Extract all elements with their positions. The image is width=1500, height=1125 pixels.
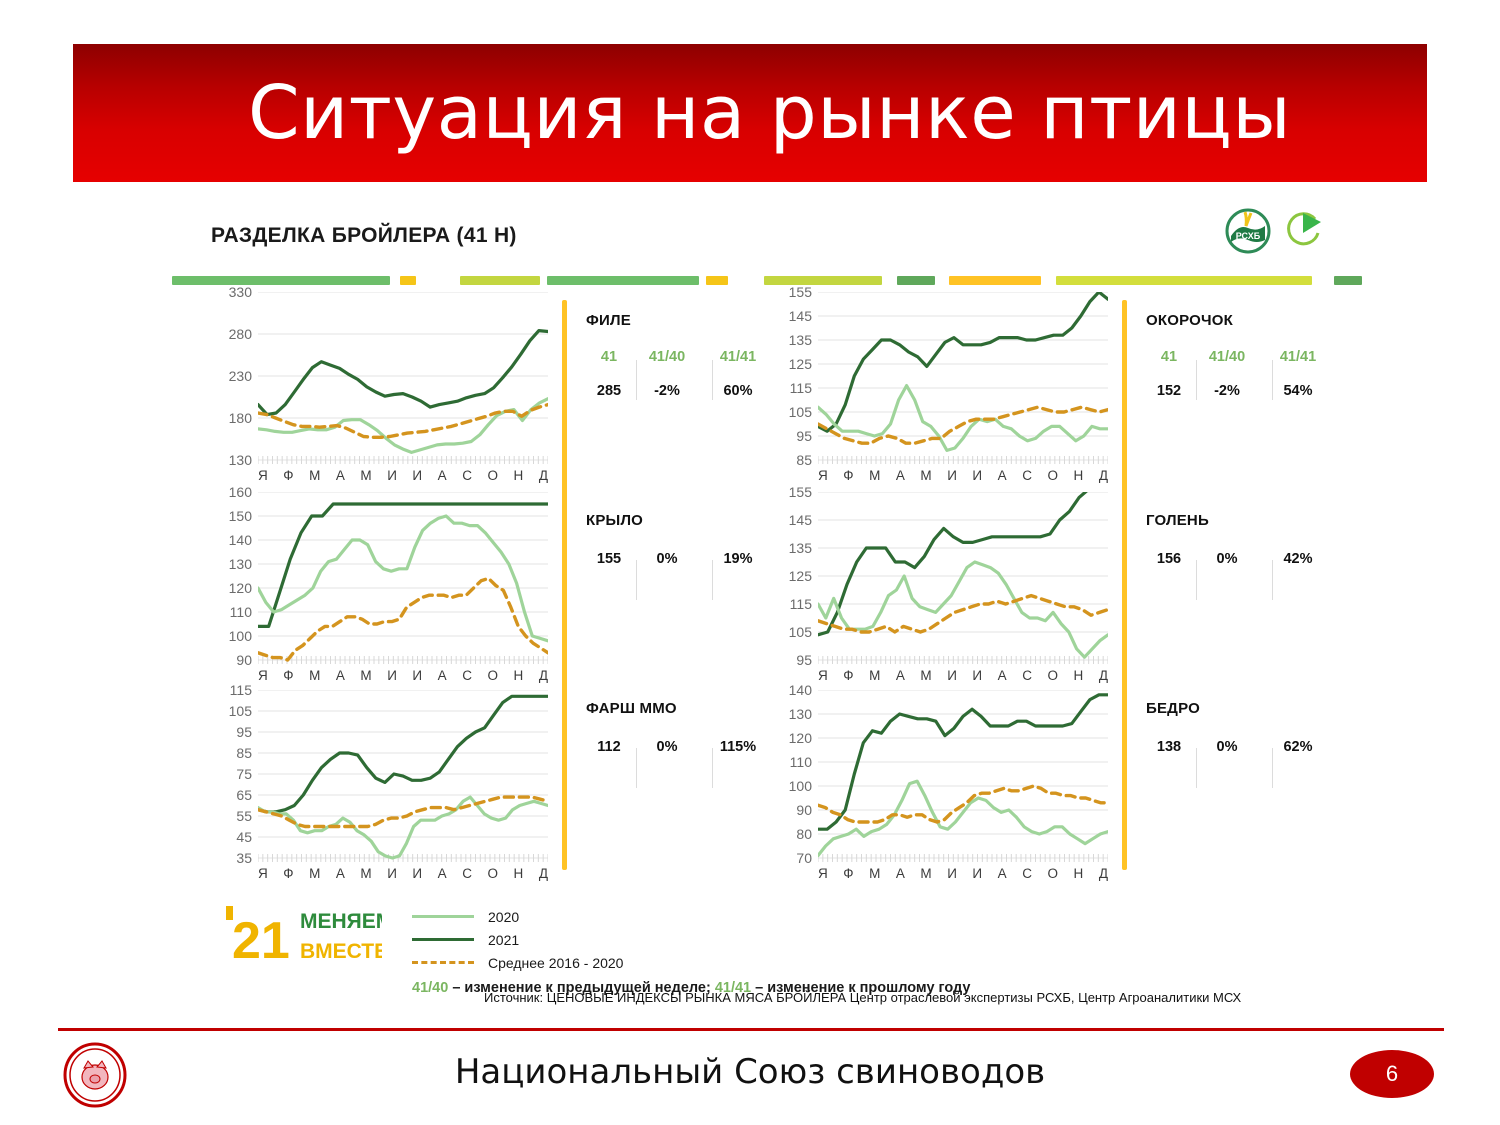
x-tick-label: М (920, 468, 931, 483)
series-line (818, 492, 1108, 635)
y-tick-label: 100 (789, 779, 812, 793)
y-tick-label: 125 (789, 357, 812, 371)
x-tick-label: И (412, 468, 422, 483)
x-tick-label: О (1047, 866, 1058, 881)
x-tick-label: Ф (843, 468, 853, 483)
x-tick-label: М (920, 668, 931, 683)
metrics-column-separator (712, 748, 713, 788)
x-tick-label: Я (818, 866, 828, 881)
x-tick-label: И (947, 866, 957, 881)
x-tick-label: А (896, 866, 905, 881)
x-tick-label: И (972, 668, 982, 683)
x-tick-label: А (998, 866, 1007, 881)
deco-segment (460, 276, 540, 285)
y-tick-label: 130 (229, 453, 252, 467)
column-divider (562, 300, 567, 870)
metrics-header-c2: 41/40 (1192, 349, 1262, 365)
x-tick-label: И (387, 668, 397, 683)
y-tick-label: 130 (789, 707, 812, 721)
x-tick-label: М (869, 668, 880, 683)
x-tick-label: М (360, 866, 371, 881)
series-line (818, 781, 1108, 855)
deco-segment (1334, 276, 1362, 285)
y-tick-label: 115 (790, 597, 812, 611)
x-tick-label: Ф (283, 668, 293, 683)
x-tick-label: И (387, 468, 397, 483)
deco-segment (1056, 276, 1312, 285)
series-line (258, 504, 548, 626)
metrics-column-separator (1272, 560, 1273, 600)
slide-title-bar: Ситуация на рынке птицы (73, 44, 1427, 182)
x-tick-label: А (336, 866, 345, 881)
y-tick-label: 120 (229, 581, 252, 595)
y-tick-label: 110 (790, 755, 812, 769)
metrics-values: 152-2%54% (1146, 383, 1334, 399)
partner-logos: РСХБ (1225, 208, 1325, 254)
x-tick-label: Д (539, 866, 548, 881)
metric-c2: 0% (632, 551, 702, 567)
metrics-крыло: КРЫЛО1550%19% (586, 512, 774, 567)
campaign-logo-21: 21 МЕНЯЕМСЯ ВМЕСТЕ (222, 900, 382, 966)
plot-area (258, 492, 548, 670)
metric-c1: 156 (1146, 551, 1192, 567)
legend-label: Среднее 2016 - 2020 (488, 955, 623, 971)
y-tick-label: 155 (789, 485, 812, 499)
y-tick-label: 145 (789, 309, 812, 323)
y-tick-label: 55 (236, 809, 252, 823)
metrics-column-separator (712, 560, 713, 600)
x-tick-label: Д (539, 468, 548, 483)
deco-segment (897, 276, 935, 285)
series-line (258, 797, 548, 858)
plot-area (818, 292, 1108, 470)
metrics-окорочок: ОКОРОЧОК4141/4041/41152-2%54% (1146, 312, 1334, 399)
y-tick-label: 115 (230, 683, 252, 697)
metrics-column-separator (712, 360, 713, 400)
svg-text:РСХБ: РСХБ (1236, 231, 1261, 241)
metrics-column-separator (636, 748, 637, 788)
cut-name: ГОЛЕНЬ (1146, 512, 1334, 529)
plot-area (258, 292, 548, 470)
legend-label: 2020 (488, 909, 519, 925)
chart-4: 95105115125135145155ЯФМАМИИАСОНД (766, 492, 1116, 694)
series-line (258, 578, 548, 660)
deco-segment (949, 276, 1041, 285)
y-tick-label: 145 (789, 513, 812, 527)
footer-title: Национальный Союз свиноводов (0, 1052, 1500, 1092)
x-axis-month-labels: ЯФМАМИИАСОНД (818, 866, 1108, 881)
cut-name: ФИЛЕ (586, 312, 774, 329)
x-tick-label: М (309, 668, 320, 683)
cut-name: ФАРШ ММО (586, 700, 774, 717)
series-line (258, 405, 548, 438)
plot-area (818, 492, 1108, 670)
metric-c2: 0% (1192, 739, 1262, 755)
x-tick-label: Н (514, 468, 524, 483)
x-tick-label: М (920, 866, 931, 881)
x-tick-label: И (972, 866, 982, 881)
x-tick-label: О (487, 668, 498, 683)
series-line (258, 696, 548, 812)
y-tick-label: 330 (229, 285, 252, 299)
x-tick-label: И (412, 668, 422, 683)
x-tick-label: Н (514, 668, 524, 683)
metrics-column-separator (1196, 748, 1197, 788)
y-tick-label: 105 (789, 625, 812, 639)
x-axis-month-labels: ЯФМАМИИАСОНД (258, 866, 548, 881)
metrics-values: 1120%115% (586, 739, 774, 755)
x-tick-label: Д (539, 668, 548, 683)
chart-1: 90100110120130140150160ЯФМАМИИАСОНД (206, 492, 556, 694)
legend-swatch-average (412, 961, 474, 964)
y-tick-label: 135 (789, 541, 812, 555)
metrics-header: 4141/4041/41 (1146, 349, 1334, 365)
metrics-values: 1550%19% (586, 551, 774, 567)
x-tick-label: Я (258, 866, 268, 881)
x-axis-month-labels: ЯФМАМИИАСОНД (818, 668, 1108, 683)
metrics-values: 1380%62% (1146, 739, 1334, 755)
svg-text:ВМЕСТЕ: ВМЕСТЕ (300, 940, 382, 963)
x-tick-label: М (869, 866, 880, 881)
metrics-column-separator (1272, 360, 1273, 400)
legend-note-code-wow: 41/40 (412, 980, 448, 996)
cut-name: КРЫЛО (586, 512, 774, 529)
x-tick-label: О (1047, 668, 1058, 683)
chart-2: 35455565758595105115ЯФМАМИИАСОНД (206, 690, 556, 892)
x-tick-label: И (387, 866, 397, 881)
series-line (818, 386, 1108, 451)
legend-item: Среднее 2016 - 2020 (412, 951, 623, 974)
y-tick-label: 180 (229, 411, 252, 425)
x-axis-month-labels: ЯФМАМИИАСОНД (258, 668, 548, 683)
metrics-column-separator (1272, 748, 1273, 788)
x-tick-label: Н (1074, 468, 1084, 483)
x-tick-label: С (462, 866, 472, 881)
x-tick-label: С (1022, 468, 1032, 483)
y-tick-label: 135 (789, 333, 812, 347)
series-line (818, 786, 1108, 822)
x-tick-label: Н (1074, 866, 1084, 881)
section-heading: РАЗДЕЛКА БРОЙЛЕРА (41 Н) (211, 224, 517, 248)
x-tick-label: Н (1074, 668, 1084, 683)
y-tick-label: 160 (229, 485, 252, 499)
x-tick-label: А (438, 468, 447, 483)
x-tick-label: И (412, 866, 422, 881)
y-tick-label: 80 (796, 827, 812, 841)
y-tick-label: 110 (230, 605, 252, 619)
metric-c1: 112 (586, 739, 632, 755)
x-tick-label: И (972, 468, 982, 483)
svg-text:МЕНЯЕМСЯ: МЕНЯЕМСЯ (300, 910, 382, 933)
metric-c1: 138 (1146, 739, 1192, 755)
circular-arrow-icon (1281, 209, 1325, 253)
x-tick-label: И (947, 468, 957, 483)
y-tick-label: 95 (796, 653, 812, 667)
metrics-column-separator (636, 560, 637, 600)
chart-5: 708090100110120130140ЯФМАМИИАСОНД (766, 690, 1116, 892)
x-tick-label: Ф (283, 468, 293, 483)
y-tick-label: 105 (229, 704, 252, 718)
page-number-badge: 6 (1350, 1050, 1434, 1098)
metric-c1: 155 (586, 551, 632, 567)
chart-legend: 2020 2021 Среднее 2016 - 2020 (412, 905, 623, 974)
metrics-values: 1560%42% (1146, 551, 1334, 567)
x-tick-label: М (360, 468, 371, 483)
y-tick-label: 140 (789, 683, 812, 697)
y-tick-label: 85 (236, 746, 252, 760)
x-tick-label: М (360, 668, 371, 683)
y-tick-label: 125 (789, 569, 812, 583)
legend-label: 2021 (488, 932, 519, 948)
x-tick-label: С (1022, 668, 1032, 683)
metric-c2: 0% (632, 739, 702, 755)
cut-name: БЕДРО (1146, 700, 1334, 717)
x-tick-label: А (336, 468, 345, 483)
metrics-column-separator (1196, 560, 1197, 600)
x-tick-label: О (1047, 468, 1058, 483)
x-tick-label: Д (1099, 866, 1108, 881)
x-tick-label: Я (818, 668, 828, 683)
legend-item: 2020 (412, 905, 623, 928)
deco-segment (400, 276, 416, 285)
x-tick-label: С (1022, 866, 1032, 881)
legend-swatch-2021 (412, 938, 474, 941)
metrics-header-c1: 41 (586, 349, 632, 365)
x-tick-label: Д (1099, 468, 1108, 483)
page-title: Ситуация на рынке птицы (73, 70, 1291, 156)
column-divider (1122, 300, 1127, 870)
y-tick-label: 115 (790, 381, 812, 395)
decorative-segment-bar (172, 276, 1362, 285)
x-tick-label: Я (818, 468, 828, 483)
metric-c1: 285 (586, 383, 632, 399)
metrics-column-separator (1196, 360, 1197, 400)
legend-item: 2021 (412, 928, 623, 951)
x-tick-label: А (896, 468, 905, 483)
metrics-header-c1: 41 (1146, 349, 1192, 365)
deco-segment (764, 276, 882, 285)
chart-0: 130180230280330ЯФМАМИИАСОНД (206, 292, 556, 494)
metric-c2: -2% (1192, 383, 1262, 399)
x-tick-label: И (947, 668, 957, 683)
deco-segment (706, 276, 728, 285)
x-tick-label: А (438, 866, 447, 881)
y-tick-label: 70 (796, 851, 812, 865)
metric-c2: 0% (1192, 551, 1262, 567)
y-tick-label: 130 (229, 557, 252, 571)
y-tick-label: 150 (229, 509, 252, 523)
x-tick-label: С (462, 468, 472, 483)
deco-segment (172, 276, 390, 285)
x-tick-label: Я (258, 468, 268, 483)
metrics-голень: ГОЛЕНЬ1560%42% (1146, 512, 1334, 567)
legend-swatch-2020 (412, 915, 474, 918)
footer-divider (58, 1028, 1444, 1031)
y-tick-label: 95 (236, 725, 252, 739)
x-tick-label: С (462, 668, 472, 683)
y-tick-label: 90 (236, 653, 252, 667)
rshb-logo-icon: РСХБ (1225, 208, 1271, 254)
y-tick-label: 155 (789, 285, 812, 299)
x-tick-label: А (896, 668, 905, 683)
plot-area (818, 690, 1108, 868)
metric-c2: -2% (632, 383, 702, 399)
x-tick-label: О (487, 468, 498, 483)
x-axis-month-labels: ЯФМАМИИАСОНД (258, 468, 548, 483)
plot-area (258, 690, 548, 868)
x-tick-label: Ф (843, 668, 853, 683)
series-line (258, 797, 548, 826)
y-tick-label: 95 (796, 429, 812, 443)
y-tick-label: 105 (789, 405, 812, 419)
x-tick-label: А (438, 668, 447, 683)
source-note: Источник: ЦЕНОВЫЕ ИНДЕКСЫ РЫНКА МЯСА БРО… (484, 990, 1241, 1005)
x-tick-label: М (869, 468, 880, 483)
series-line (258, 331, 548, 415)
metric-c1: 152 (1146, 383, 1192, 399)
x-tick-label: Я (258, 668, 268, 683)
metrics-values: 285-2%60% (586, 383, 774, 399)
x-tick-label: М (309, 866, 320, 881)
x-tick-label: А (998, 668, 1007, 683)
metrics-column-separator (636, 360, 637, 400)
y-tick-label: 35 (236, 851, 252, 865)
metrics-филе: ФИЛЕ4141/4041/41285-2%60% (586, 312, 774, 399)
x-tick-label: Д (1099, 668, 1108, 683)
x-tick-label: Ф (283, 866, 293, 881)
y-tick-label: 230 (229, 369, 252, 383)
metrics-header: 4141/4041/41 (586, 349, 774, 365)
y-tick-label: 120 (789, 731, 812, 745)
y-tick-label: 45 (236, 830, 252, 844)
x-tick-label: А (998, 468, 1007, 483)
x-tick-label: О (487, 866, 498, 881)
x-tick-label: Ф (843, 866, 853, 881)
x-axis-month-labels: ЯФМАМИИАСОНД (818, 468, 1108, 483)
y-tick-label: 280 (229, 327, 252, 341)
y-tick-label: 75 (236, 767, 252, 781)
y-tick-label: 100 (229, 629, 252, 643)
x-tick-label: Н (514, 866, 524, 881)
y-tick-label: 65 (236, 788, 252, 802)
x-tick-label: М (309, 468, 320, 483)
deco-segment (547, 276, 699, 285)
metrics-бедро: БЕДРО1380%62% (1146, 700, 1334, 755)
metrics-фарш-ммо: ФАРШ ММО1120%115% (586, 700, 774, 755)
y-tick-label: 140 (229, 533, 252, 547)
y-tick-label: 85 (796, 453, 812, 467)
cut-name: ОКОРОЧОК (1146, 312, 1334, 329)
metrics-header-c2: 41/40 (632, 349, 702, 365)
chart-3: 8595105115125135145155ЯФМАМИИАСОНД (766, 292, 1116, 494)
y-tick-label: 90 (796, 803, 812, 817)
x-tick-label: А (336, 668, 345, 683)
svg-text:21: 21 (232, 912, 290, 966)
